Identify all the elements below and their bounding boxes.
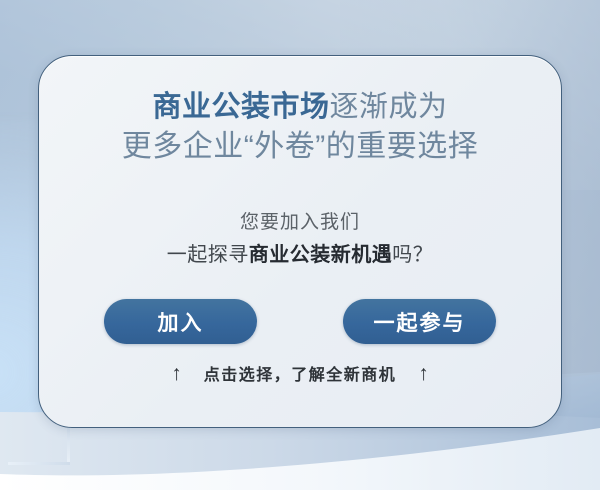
cta-hint-text: 点击选择，了解全新商机: [204, 361, 397, 385]
join-button[interactable]: 加入: [104, 299, 257, 344]
headline-line-1-rest: 逐渐成为: [330, 91, 448, 123]
promo-card: 商业公装市场逐渐成为 更多企业“外卷”的重要选择 您要加入我们 一起探寻商业公装…: [38, 55, 562, 428]
subtitle-line-1: 您要加入我们: [39, 208, 561, 238]
cta-hint: ↑ 点击选择，了解全新商机 ↑: [39, 361, 561, 385]
arrow-up-icon-left: ↑: [171, 363, 182, 384]
subtitle-prefix: 一起探寻: [167, 244, 249, 266]
participate-button[interactable]: 一起参与: [343, 299, 496, 344]
subtitle-emphasis: 商业公装新机遇: [249, 244, 393, 266]
subtitle: 您要加入我们 一起探寻商业公装新机遇吗？: [39, 208, 561, 272]
poster-canvas: 商业公装市场逐渐成为 更多企业“外卷”的重要选择 您要加入我们 一起探寻商业公装…: [0, 0, 600, 490]
subtitle-suffix: 吗？: [392, 244, 433, 266]
decorative-corner-bracket: [8, 423, 70, 465]
cta-button-row: 加入 一起参与: [39, 299, 561, 344]
headline-line-2: 更多企业“外卷”的重要选择: [39, 127, 561, 167]
headline-emphasis: 商业公装市场: [152, 91, 329, 123]
subtitle-line-2: 一起探寻商业公装新机遇吗？: [39, 238, 561, 272]
headline-line-1: 商业公装市场逐渐成为: [39, 88, 561, 127]
page-title: 商业公装市场逐渐成为 更多企业“外卷”的重要选择: [39, 88, 561, 167]
arrow-up-icon-right: ↑: [418, 363, 429, 384]
